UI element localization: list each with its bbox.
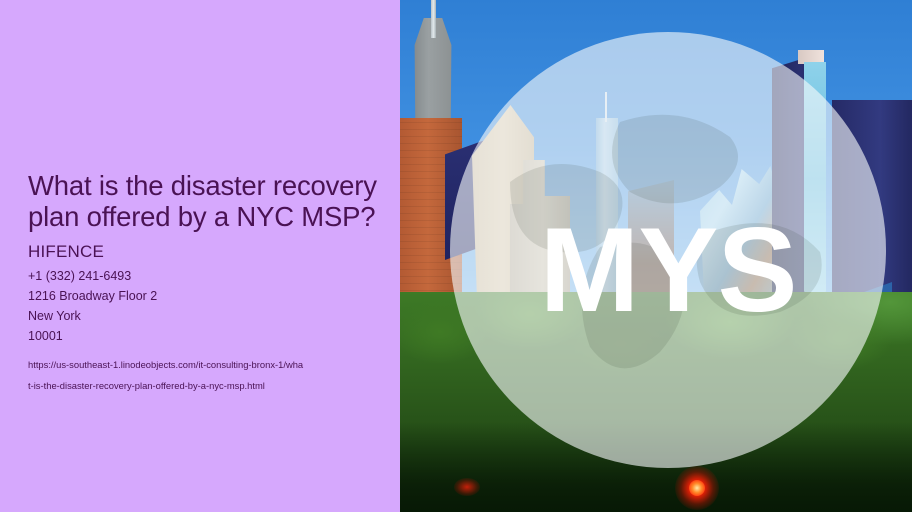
contact-phone[interactable]: +1 (332) 241-6493 [28, 266, 378, 286]
left-info-panel: What is the disaster recovery plan offer… [0, 0, 400, 512]
source-url-line-2[interactable]: t-is-the-disaster-recovery-plan-offered-… [28, 375, 378, 396]
brand-name: HIFENCE [28, 241, 378, 263]
text-block: What is the disaster recovery plan offer… [28, 170, 378, 396]
circular-overlay: MYS [450, 32, 886, 468]
empire-state-spire [431, 0, 436, 38]
source-url[interactable]: https://us-southeast-1.linodeobjects.com… [28, 354, 378, 396]
overlay-text-mys: MYS [450, 210, 886, 330]
contact-address-line1: 1216 Broadway Floor 2 [28, 286, 378, 306]
page-title: What is the disaster recovery plan offer… [28, 170, 378, 232]
traffic-light-red [689, 480, 705, 496]
nyc-skyline-photo: MYS [400, 0, 912, 512]
contact-zip: 10001 [28, 326, 378, 346]
traffic-light-secondary [454, 478, 480, 496]
contact-city: New York [28, 306, 378, 326]
source-url-line-1[interactable]: https://us-southeast-1.linodeobjects.com… [28, 354, 378, 375]
promo-card: What is the disaster recovery plan offer… [0, 0, 912, 512]
